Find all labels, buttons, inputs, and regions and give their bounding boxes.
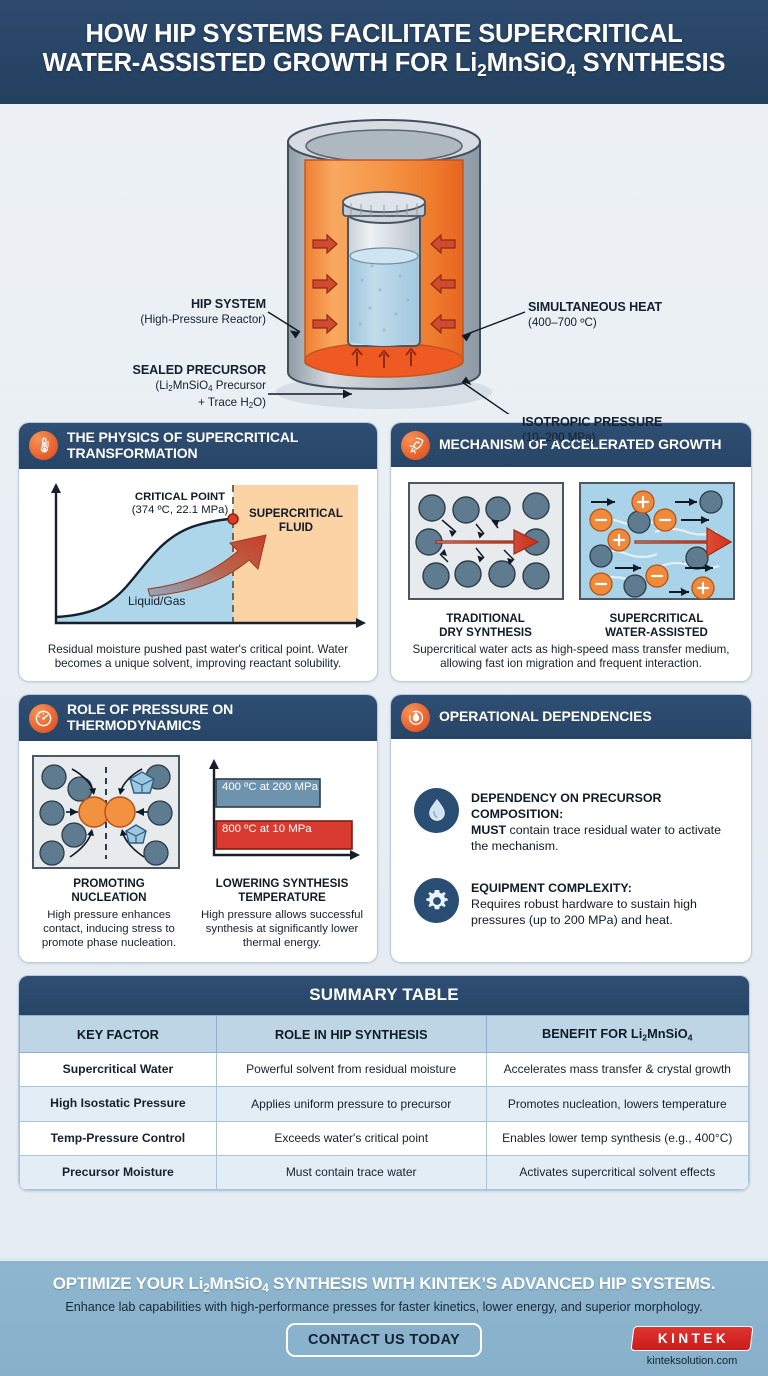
footer-subline: Enhance lab capabilities with high-perfo…	[0, 1300, 768, 1314]
title-sub-2: 2	[477, 60, 486, 80]
callout-subtitle: (10–200 MPa)	[522, 430, 742, 445]
callout-title: SIMULTANEOUS HEAT	[528, 299, 738, 315]
panel-mechanism-body: TRADITIONAL DRY SYNTHESIS	[391, 467, 751, 681]
hero-reactor-diagram: HIP SYSTEM (High-Pressure Reactor) SEALE…	[0, 104, 768, 414]
panel-physics-caption: Residual moisture pushed past water's cr…	[28, 643, 368, 673]
pressure-temperature: 400 ºC at 200 MPa 800 ºC at 10 MPa LOWER…	[198, 753, 366, 951]
title-line-2a: WATER-ASSISTED GROWTH FOR Li	[43, 49, 478, 77]
page-title: HOW HIP SYSTEMS FACILITATE SUPERCRITICAL…	[43, 20, 726, 81]
panel-dependencies-header: OPERATIONAL DEPENDENCIES	[391, 695, 751, 739]
panel-pressure-body: PROMOTING NUCLEATION High pressure enhan…	[19, 741, 377, 962]
panel-physics-title: THE PHYSICS OF SUPERCRITICAL TRANSFORMAT…	[67, 430, 367, 462]
gauge-icon	[29, 704, 58, 733]
panel-dependencies: OPERATIONAL DEPENDENCIES DEPENDENCY ON P…	[390, 694, 752, 963]
table-cell-benefit: Accelerates mass transfer & crystal grow…	[486, 1053, 748, 1087]
nucleation-text: High pressure enhances contact, inducing…	[30, 908, 188, 951]
water-drop-icon	[414, 788, 459, 833]
summary-table: KEY FACTOR ROLE IN HIP SYNTHESIS BENEFIT…	[19, 1015, 749, 1190]
temperature-bar-chart	[198, 753, 366, 871]
table-header-key-factor: KEY FACTOR	[20, 1015, 217, 1052]
panel-dependencies-title: OPERATIONAL DEPENDENCIES	[439, 709, 652, 725]
summary-table-wrapper: SUMMARY TABLE KEY FACTOR ROLE IN HIP SYN…	[18, 975, 750, 1191]
panel-pressure-title: ROLE OF PRESSURE ON THERMODYNAMICS	[67, 702, 367, 734]
rocket-icon	[401, 431, 430, 460]
callout-title: SEALED PRECURSOR	[78, 362, 266, 378]
panel-grid: THE PHYSICS OF SUPERCRITICAL TRANSFORMAT…	[0, 422, 768, 963]
dependency-precursor-composition: DEPENDENCY ON PRECURSOR COMPOSITION: MUS…	[400, 784, 742, 855]
table-cell-role: Powerful solvent from residual moisture	[216, 1053, 486, 1087]
table-row: Supercritical Water Powerful solvent fro…	[20, 1053, 749, 1087]
title-sub-4: 4	[566, 60, 575, 80]
callout-isotropic-pressure: ISOTROPIC PRESSURE (10–200 MPa)	[522, 414, 742, 445]
title-line-2c: SYNTHESIS	[576, 49, 726, 77]
table-row: Precursor Moisture Must contain trace wa…	[20, 1155, 749, 1189]
brand-url: kinteksolution.com	[632, 1355, 752, 1367]
table-cell-key-factor: Temp-Pressure Control	[20, 1121, 217, 1155]
table-cell-benefit: Promotes nucleation, lowers temperature	[486, 1087, 748, 1121]
panel-physics-header: THE PHYSICS OF SUPERCRITICAL TRANSFORMAT…	[19, 423, 377, 469]
table-cell-role: Must contain trace water	[216, 1155, 486, 1189]
temperature-label: LOWERING SYNTHESIS TEMPERATURE	[198, 877, 366, 905]
table-header-benefit: BENEFIT FOR Li2MnSiO4	[486, 1015, 748, 1052]
table-cell-benefit: Enables lower temp synthesis (e.g., 400°…	[486, 1121, 748, 1155]
contact-us-button[interactable]: CONTACT US TODAY	[286, 1323, 482, 1357]
mechanism-comparison: TRADITIONAL DRY SYNTHESIS	[402, 480, 740, 640]
infographic-page: HOW HIP SYSTEMS FACILITATE SUPERCRITICAL…	[0, 0, 768, 1376]
callout-simultaneous-heat: SIMULTANEOUS HEAT (400–700 ºC)	[528, 299, 738, 330]
footer-cta: OPTIMIZE YOUR Li2MnSiO4 SYNTHESIS WITH K…	[0, 1258, 768, 1376]
page-header: HOW HIP SYSTEMS FACILITATE SUPERCRITICAL…	[0, 0, 768, 104]
thermometer-icon	[29, 431, 58, 460]
nucleation-diagram	[30, 753, 182, 871]
mechanism-supercritical: SUPERCRITICAL WATER-ASSISTED	[577, 480, 737, 640]
table-cell-role: Applies uniform pressure to precursor	[216, 1087, 486, 1121]
supercritical-region-label: SUPERCRITICAL FLUID	[242, 507, 350, 535]
table-row: Temp-Pressure Control Exceeds water's cr…	[20, 1121, 749, 1155]
critical-point-annotation: CRITICAL POINT (374 ºC, 22.1 MPa)	[120, 491, 240, 518]
pressure-nucleation: PROMOTING NUCLEATION High pressure enhan…	[30, 753, 188, 951]
panel-pressure-header: ROLE OF PRESSURE ON THERMODYNAMICS	[19, 695, 377, 741]
phase-diagram-chart: CRITICAL POINT (374 ºC, 22.1 MPa) SUPERC…	[30, 479, 366, 637]
footer-headline: OPTIMIZE YOUR Li2MnSiO4 SYNTHESIS WITH K…	[0, 1274, 768, 1295]
dependency-equipment-complexity: EQUIPMENT COMPLEXITY: Requires robust ha…	[400, 874, 742, 928]
panel-physics-body: CRITICAL POINT (374 ºC, 22.1 MPa) SUPERC…	[19, 469, 377, 682]
callout-sealed-precursor: SEALED PRECURSOR (Li2MnSiO4 Precursor + …	[78, 362, 266, 411]
nucleation-label: PROMOTING NUCLEATION	[30, 877, 188, 905]
table-cell-key-factor: Precursor Moisture	[20, 1155, 217, 1189]
liquid-gas-region-label: Liquid/Gas	[128, 594, 185, 608]
dry-synthesis-diagram	[406, 480, 566, 602]
callout-subtitle: (High-Pressure Reactor)	[96, 312, 266, 327]
panel-pressure: ROLE OF PRESSURE ON THERMODYNAMICS	[18, 694, 378, 963]
table-cell-benefit: Activates supercritical solvent effects	[486, 1155, 748, 1189]
callout-subtitle-line2: + Trace H2O)	[78, 395, 266, 411]
summary-table-title: SUMMARY TABLE	[19, 976, 749, 1015]
kintek-logo: KINTEK	[630, 1326, 753, 1351]
callout-hip-system: HIP SYSTEM (High-Pressure Reactor)	[96, 296, 266, 327]
mechanism-supercritical-label: SUPERCRITICAL WATER-ASSISTED	[577, 612, 737, 640]
table-cell-key-factor: High Isostatic Pressure	[20, 1087, 217, 1121]
callout-title: ISOTROPIC PRESSURE	[522, 414, 742, 430]
callout-title: HIP SYSTEM	[96, 296, 266, 312]
callout-subtitle: (400–700 ºC)	[528, 315, 738, 330]
callout-subtitle: (Li2MnSiO4 Precursor	[78, 378, 266, 394]
table-cell-key-factor: Supercritical Water	[20, 1053, 217, 1087]
panel-dependencies-body: DEPENDENCY ON PRECURSOR COMPOSITION: MUS…	[391, 739, 751, 962]
mechanism-traditional: TRADITIONAL DRY SYNTHESIS	[406, 480, 566, 640]
pressure-comparison: PROMOTING NUCLEATION High pressure enhan…	[30, 753, 366, 951]
title-line-2b: MnSiO	[487, 49, 567, 77]
dependency-equipment-text: EQUIPMENT COMPLEXITY: Requires robust ha…	[471, 878, 736, 928]
table-header-role: ROLE IN HIP SYNTHESIS	[216, 1015, 486, 1052]
dependency-precursor-text: DEPENDENCY ON PRECURSOR COMPOSITION: MUS…	[471, 788, 736, 855]
panel-mechanism-caption: Supercritical water acts as high-speed m…	[400, 643, 742, 673]
temperature-text: High pressure allows successful synthesi…	[198, 908, 366, 951]
supercritical-diagram	[577, 480, 737, 602]
brand-block: KINTEK kinteksolution.com	[632, 1326, 752, 1367]
bar-800c	[216, 821, 352, 849]
title-line-1: HOW HIP SYSTEMS FACILITATE SUPERCRITICAL	[86, 20, 683, 48]
panel-mechanism: MECHANISM OF ACCELERATED GROWTH	[390, 422, 752, 682]
panel-physics: THE PHYSICS OF SUPERCRITICAL TRANSFORMAT…	[18, 422, 378, 682]
table-cell-role: Exceeds water's critical point	[216, 1121, 486, 1155]
mechanism-traditional-label: TRADITIONAL DRY SYNTHESIS	[406, 612, 566, 640]
gear-icon	[414, 878, 459, 923]
table-row: High Isostatic Pressure Applies uniform …	[20, 1087, 749, 1121]
droplet-icon	[401, 703, 430, 732]
table-header-row: KEY FACTOR ROLE IN HIP SYNTHESIS BENEFIT…	[20, 1015, 749, 1052]
bar-400c	[216, 779, 320, 807]
